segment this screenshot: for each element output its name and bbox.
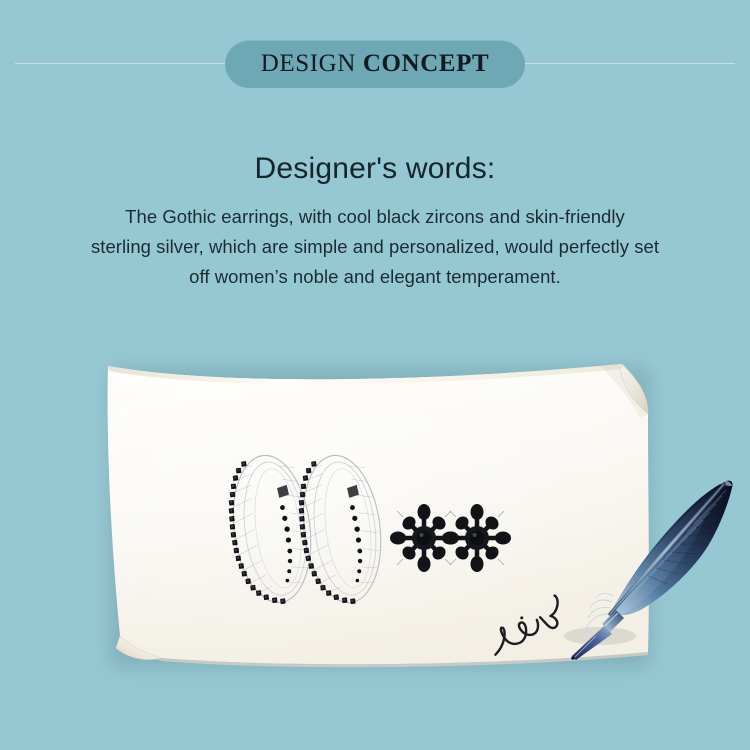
banner-pill: DESIGN CONCEPT	[225, 40, 525, 88]
banner: DESIGN CONCEPT	[0, 40, 750, 88]
banner-title: DESIGN CONCEPT	[261, 50, 490, 78]
feather-shaft-highlight	[610, 484, 724, 614]
banner-title-bold: CONCEPT	[363, 50, 489, 77]
paragraph-line-1: The Gothic earrings, with cool black zir…	[55, 202, 695, 232]
design-concept-panel: DESIGN CONCEPT Designer's words: The Got…	[0, 0, 750, 750]
banner-title-light: DESIGN	[261, 50, 363, 77]
designer-words-heading: Designer's words:	[0, 152, 750, 186]
paragraph-line-3: off women’s noble and elegant temperamen…	[55, 262, 695, 292]
paragraph-line-2: sterling silver, which are simple and pe…	[55, 232, 695, 262]
designer-words-block: Designer's words: The Gothic earrings, w…	[0, 152, 750, 292]
designer-words-paragraph: The Gothic earrings, with cool black zir…	[55, 202, 695, 292]
feather-barbs	[622, 490, 726, 606]
banner-rule-left	[15, 63, 245, 64]
banner-rule-right	[505, 63, 735, 64]
feather-quill-pen	[552, 468, 750, 663]
quill-nib-point	[571, 656, 575, 660]
